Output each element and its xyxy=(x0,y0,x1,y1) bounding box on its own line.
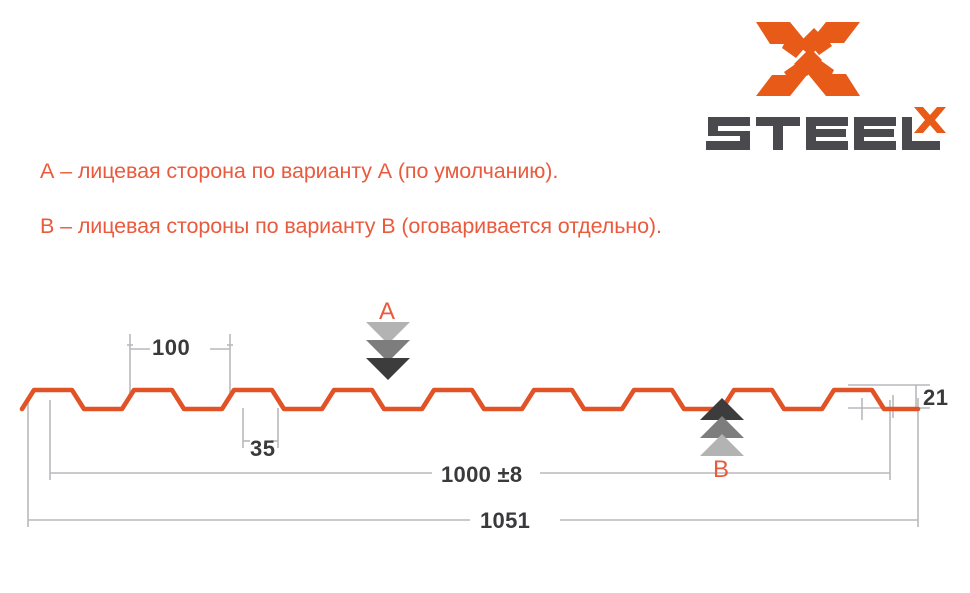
dimension-lines xyxy=(28,334,930,527)
side-a-direction-arrow xyxy=(366,322,410,380)
profile-cross-section-drawing xyxy=(0,0,970,593)
side-a-marker-letter: А xyxy=(379,298,395,326)
dimension-label-total-width: 1051 xyxy=(471,508,539,534)
dimension-label-pitch: 100 xyxy=(152,335,190,361)
side-b-marker-letter: В xyxy=(713,456,729,484)
dimension-label-rib-width: 35 xyxy=(250,436,275,462)
dimension-label-rib-height: 21 xyxy=(923,385,948,411)
dimension-label-working-width: 1000 ±8 xyxy=(432,462,531,488)
profile-outline xyxy=(22,390,918,409)
drawing-canvas: А – лицевая сторона по варианту А (по ум… xyxy=(0,0,970,593)
